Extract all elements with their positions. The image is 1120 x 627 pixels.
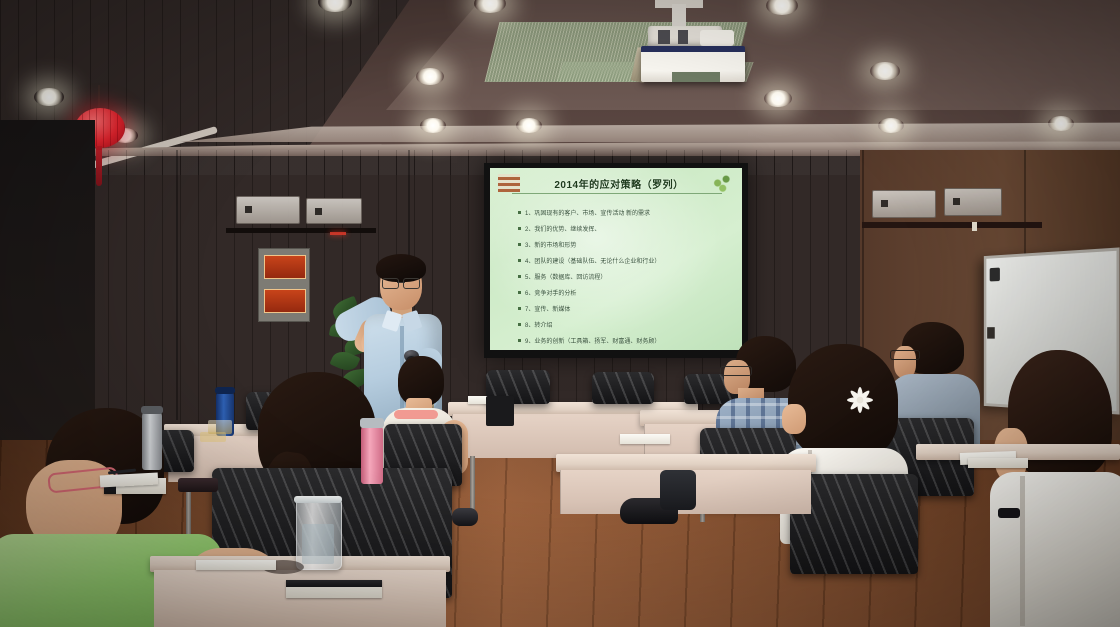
bullet-marker bbox=[518, 211, 521, 214]
indicator-light bbox=[330, 232, 346, 235]
wall-speaker bbox=[236, 196, 300, 224]
ceiling-light bbox=[1048, 116, 1074, 131]
training-room-photo: 2014年的应对策略（罗列） 1、巩固现有的客户、市场、宣传活动 新的需求 2、… bbox=[0, 0, 1120, 627]
slide-bullet-text: 7、宣传、新媒体 bbox=[525, 304, 570, 313]
slide-bullet: 4、团队的建设（基础队伍、无论什么企业和行业） bbox=[518, 256, 660, 265]
bullet-marker bbox=[518, 275, 521, 278]
paper-sheet[interactable] bbox=[620, 434, 670, 444]
slide-title: 2014年的应对策略（罗列） bbox=[544, 176, 694, 191]
ceiling-light bbox=[516, 118, 542, 133]
thermos-lid bbox=[360, 418, 384, 428]
slide-bullet-text: 3、新的市场和形势 bbox=[525, 240, 576, 249]
slide-bullet-text: 1、巩固现有的客户、市场、宣传活动 新的需求 bbox=[525, 208, 650, 217]
slide-bullet-text: 4、团队的建设（基础队伍、无论什么企业和行业） bbox=[525, 256, 660, 265]
slide-bullet: 7、宣传、新媒体 bbox=[518, 304, 570, 313]
wall-plaque bbox=[264, 289, 306, 313]
projector-mount-pole bbox=[672, 4, 686, 28]
slide-bullet: 1、巩固现有的客户、市场、宣传活动 新的需求 bbox=[518, 208, 650, 217]
slide-bullet-text: 2、我们的优势、继续发挥、 bbox=[525, 224, 600, 233]
projector-lens bbox=[672, 72, 720, 82]
ceiling-light bbox=[420, 118, 446, 133]
thermos-lid bbox=[215, 387, 235, 394]
tea-glass[interactable] bbox=[208, 420, 232, 434]
bullet-marker bbox=[518, 291, 521, 294]
flower-hairpin-icon bbox=[838, 378, 882, 422]
jar-lid bbox=[294, 496, 342, 503]
ceiling-light bbox=[878, 118, 904, 133]
slide-bullet-text: 6、竞争对手的分析 bbox=[525, 288, 576, 297]
slide-logo bbox=[498, 174, 520, 192]
projector-top-module bbox=[700, 30, 734, 46]
glasses bbox=[382, 278, 420, 287]
ceiling-light bbox=[764, 90, 792, 107]
trouser-leg bbox=[660, 470, 696, 510]
jar-water bbox=[302, 524, 334, 564]
projection-screen: 2014年的应对策略（罗列） 1、巩固现有的客户、市场、宣传活动 新的需求 2、… bbox=[484, 163, 748, 358]
slide-title-rule bbox=[512, 193, 722, 194]
notebook-cover bbox=[286, 580, 382, 587]
slide-bullet: 2、我们的优势、继续发挥、 bbox=[518, 224, 600, 233]
slide-bullet: 6、竞争对手的分析 bbox=[518, 288, 576, 297]
bullet-marker bbox=[518, 227, 521, 230]
wall-plaque-frame bbox=[258, 248, 310, 322]
wristwatch bbox=[998, 508, 1020, 518]
ceiling-light bbox=[870, 62, 900, 80]
pink-thermos[interactable] bbox=[361, 426, 383, 484]
paper-sheet[interactable] bbox=[196, 560, 276, 570]
notebook[interactable] bbox=[968, 458, 1028, 468]
wall-speaker bbox=[944, 188, 1002, 216]
laptop-or-monitor[interactable] bbox=[486, 396, 514, 426]
steel-thermos[interactable] bbox=[142, 412, 162, 470]
slide-bullet-text: 8、转介绍 bbox=[525, 320, 552, 329]
wall-speaker bbox=[872, 190, 936, 218]
slide-bullet: 8、转介绍 bbox=[518, 320, 552, 329]
blouse-seam bbox=[1020, 476, 1025, 626]
ceiling-light bbox=[34, 88, 64, 106]
bullet-marker bbox=[518, 339, 521, 342]
shoe bbox=[452, 508, 478, 526]
bullet-marker bbox=[518, 307, 521, 310]
wall-switch[interactable] bbox=[972, 222, 977, 231]
desk-front bbox=[154, 570, 446, 627]
wall-seam bbox=[176, 150, 178, 420]
attendee-far-right bbox=[990, 350, 1120, 627]
slide-bullet: 9、业务的创新（工具箱、扬军、财富通、财务顾） bbox=[518, 336, 660, 345]
attendee-white-blouse bbox=[990, 472, 1120, 627]
bullet-marker bbox=[518, 323, 521, 326]
attendee-ear bbox=[782, 404, 806, 434]
whiteboard-clip bbox=[987, 327, 995, 338]
ceiling-light bbox=[416, 68, 444, 85]
smartphone[interactable] bbox=[178, 478, 218, 492]
slide-bullet: 3、新的市场和形势 bbox=[518, 240, 576, 249]
wall-speaker bbox=[306, 198, 362, 224]
bullet-marker bbox=[518, 259, 521, 262]
slide-bullet-text: 9、业务的创新（工具箱、扬军、财富通、财务顾） bbox=[525, 336, 660, 345]
thermos-lid bbox=[141, 406, 163, 414]
left-wall-dark bbox=[0, 120, 95, 450]
glasses bbox=[720, 366, 752, 376]
chair[interactable] bbox=[592, 372, 654, 404]
slide-bullet-text: 5、服务（数据库、回访流程） bbox=[525, 272, 606, 281]
bullet-marker bbox=[518, 243, 521, 246]
slide-bullet: 5、服务（数据库、回访流程） bbox=[518, 272, 606, 281]
wall-rail bbox=[226, 228, 376, 233]
wall-rail bbox=[862, 222, 1042, 228]
presentation-slide: 2014年的应对策略（罗列） 1、巩固现有的客户、市场、宣传活动 新的需求 2、… bbox=[490, 168, 742, 350]
wall-plaque bbox=[264, 255, 306, 279]
whiteboard-clip bbox=[990, 268, 1000, 282]
